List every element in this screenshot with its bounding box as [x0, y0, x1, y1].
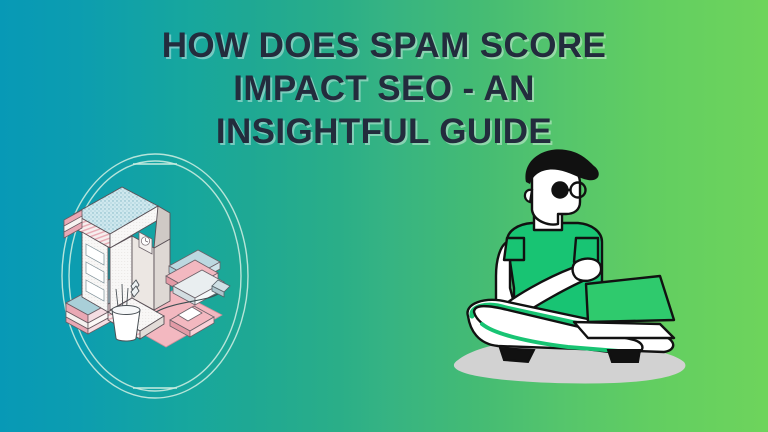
banner-title: HOW DOES SPAM SCORE IMPACT SEO - AN INSI…	[0, 24, 768, 153]
isometric-letter-i-bookshelf-illustration	[52, 152, 258, 400]
blog-banner: HOW DOES SPAM SCORE IMPACT SEO - AN INSI…	[0, 0, 768, 432]
sleeve-left	[504, 238, 524, 260]
person-with-laptop-illustration	[438, 138, 706, 390]
shoe-right	[608, 350, 640, 362]
title-line-1: HOW DOES SPAM SCORE	[0, 24, 768, 67]
title-line-2: IMPACT SEO - AN	[0, 67, 768, 110]
shoe-left	[500, 348, 534, 362]
laptop-base	[574, 322, 674, 338]
ear	[525, 190, 532, 202]
laptop-lid	[586, 276, 674, 322]
title-line-3: INSIGHTFUL GUIDE	[0, 110, 768, 153]
side-book-stack-top	[64, 210, 82, 238]
hand	[573, 259, 602, 281]
